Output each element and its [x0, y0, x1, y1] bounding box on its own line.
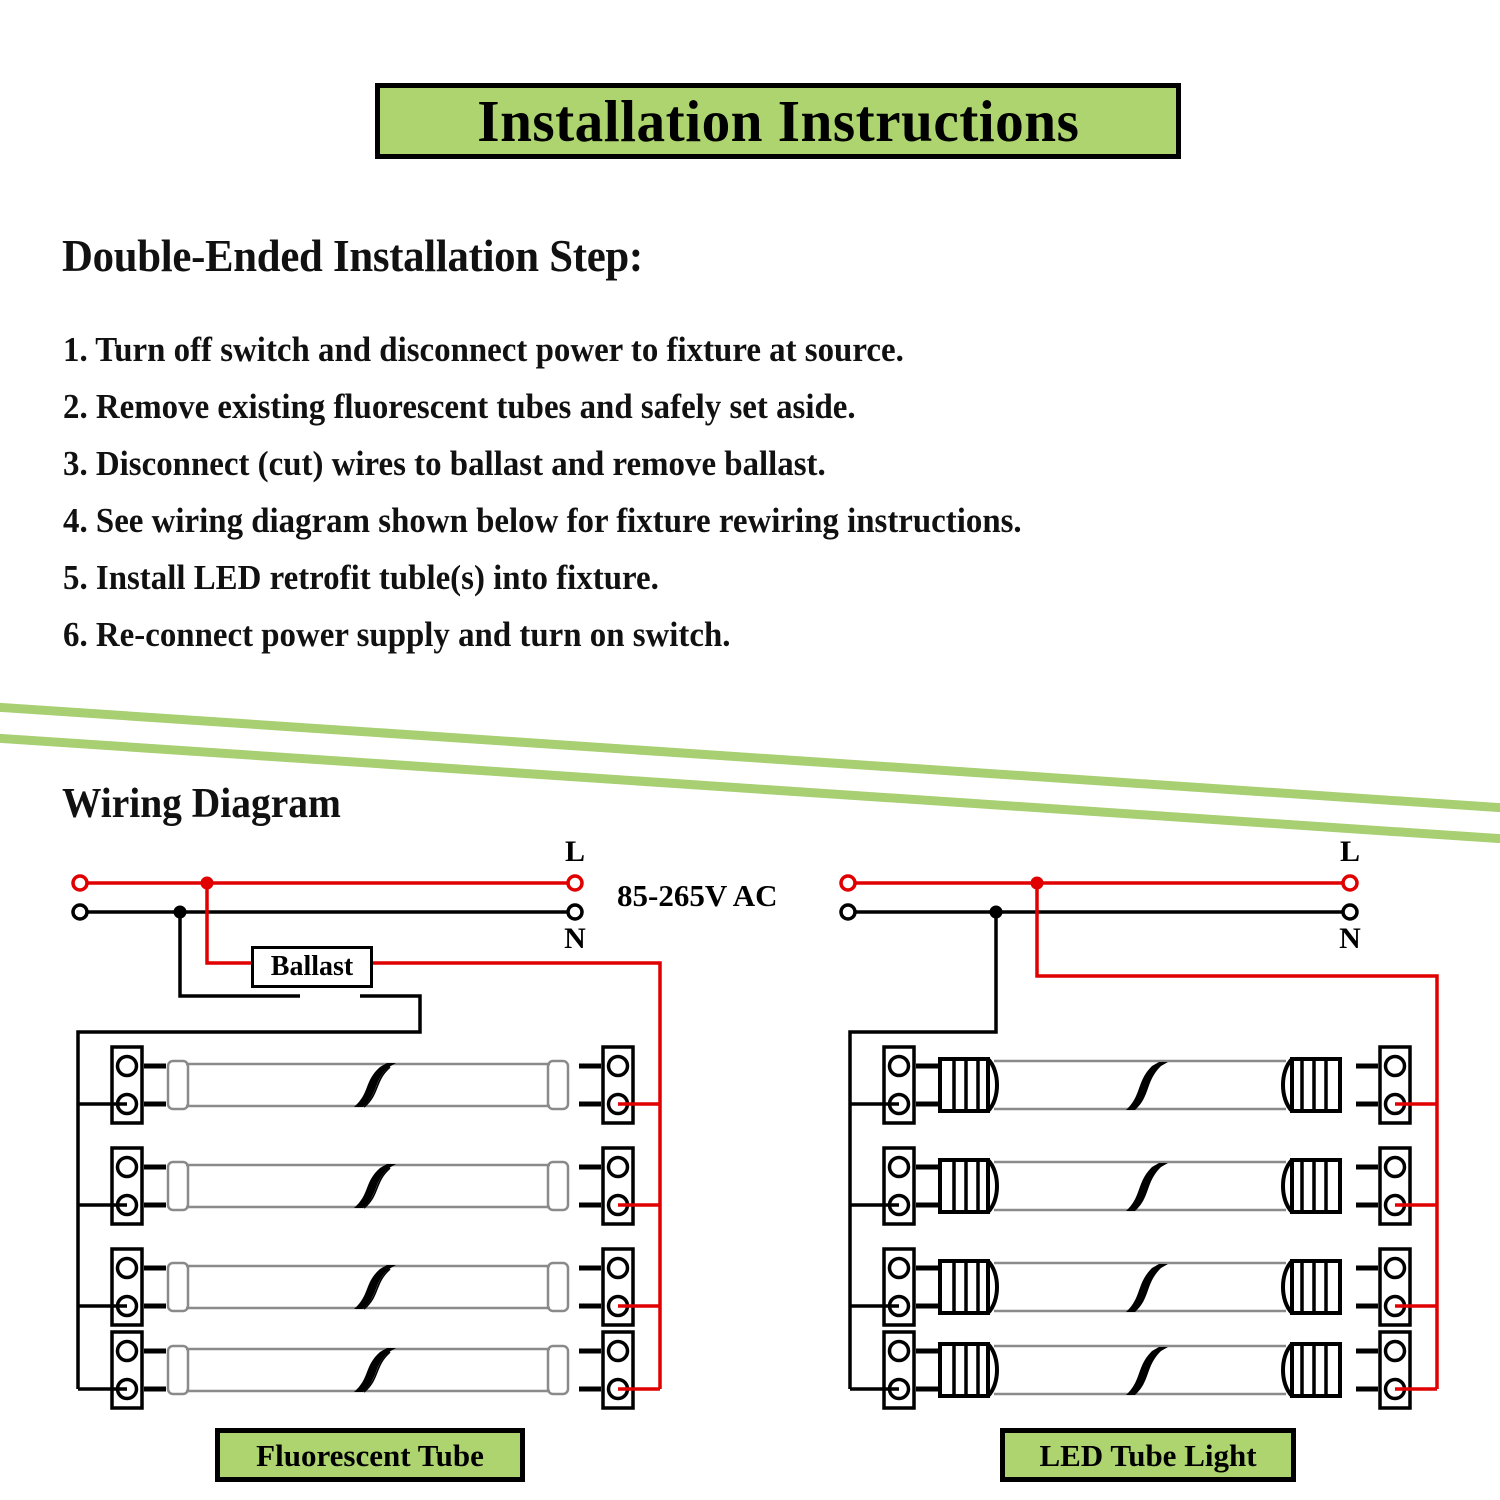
- neutral-terminal-right: [568, 905, 582, 919]
- caption-label: Fluorescent Tube: [256, 1440, 484, 1471]
- caption-fluorescent-tube: Fluorescent Tube: [215, 1428, 525, 1482]
- socket-left: [884, 1249, 938, 1325]
- installation-steps-list: 1. Turn off switch and disconnect power …: [63, 332, 1463, 674]
- socket-right: [1356, 1148, 1410, 1224]
- socket-right: [579, 1249, 633, 1325]
- tube-row: [850, 1249, 1437, 1325]
- live-label-L: L: [565, 836, 585, 868]
- neutral-label-N: N: [564, 922, 586, 955]
- led-tube: [940, 1344, 1340, 1396]
- neutral-terminal-right: [1343, 905, 1357, 919]
- caption-led-tube-light: LED Tube Light: [1000, 1428, 1296, 1482]
- led-tube: [940, 1059, 1340, 1111]
- list-item: 4. See wiring diagram shown below for fi…: [63, 503, 1379, 538]
- fluorescent-tube: [168, 1162, 568, 1210]
- caption-label: LED Tube Light: [1039, 1440, 1256, 1471]
- ballast-box: Ballast: [251, 946, 373, 988]
- live-terminal-left: [73, 876, 87, 890]
- neutral-to-left-bus: [850, 912, 996, 1389]
- live-terminal-right: [568, 876, 582, 890]
- neutral-terminal-left: [73, 905, 87, 919]
- wiring-diagram: L N: [0, 836, 1500, 1436]
- led-tube: [940, 1160, 1340, 1212]
- socket-right: [579, 1332, 633, 1408]
- socket-left: [112, 1249, 166, 1325]
- fluorescent-tube: [168, 1061, 568, 1109]
- socket-right: [579, 1047, 633, 1123]
- tube-row: [78, 1047, 660, 1123]
- ballast-label: Ballast: [271, 953, 353, 981]
- list-item: 3. Disconnect (cut) wires to ballast and…: [63, 446, 1379, 481]
- tube-row: [78, 1332, 660, 1408]
- tube-row: [850, 1148, 1437, 1224]
- socket-left: [112, 1332, 166, 1408]
- tube-row: [78, 1249, 660, 1325]
- socket-right: [579, 1148, 633, 1224]
- section-heading-installation-step: Double-Ended Installation Step:: [62, 229, 643, 282]
- live-terminal-left: [841, 876, 855, 890]
- neutral-label-N: N: [1339, 922, 1361, 955]
- socket-right: [1356, 1047, 1410, 1123]
- socket-right: [1356, 1249, 1410, 1325]
- page-title-banner: Installation Instructions: [375, 83, 1181, 159]
- socket-left: [112, 1148, 166, 1224]
- list-item: 6. Re-connect power supply and turn on s…: [63, 617, 1379, 652]
- fluorescent-tube: [168, 1346, 568, 1394]
- led-tube: [940, 1261, 1340, 1313]
- voltage-label: 85-265V AC: [617, 878, 777, 914]
- tube-row: [850, 1047, 1437, 1123]
- socket-left: [884, 1047, 938, 1123]
- list-item: 1. Turn off switch and disconnect power …: [63, 332, 1379, 367]
- left-circuit-fluorescent: L N: [73, 836, 660, 1408]
- fluorescent-tube: [168, 1263, 568, 1311]
- neutral-terminal-left: [841, 905, 855, 919]
- tube-row: [850, 1332, 1437, 1408]
- live-terminal-right: [1343, 876, 1357, 890]
- list-item: 2. Remove existing fluorescent tubes and…: [63, 389, 1379, 424]
- tube-row: [78, 1148, 660, 1224]
- page-title: Installation Instructions: [477, 92, 1079, 151]
- live-label-L: L: [1340, 836, 1360, 868]
- green-diagonal-stripes: [0, 690, 1500, 860]
- socket-left: [884, 1148, 938, 1224]
- list-item: 5. Install LED retrofit tuble(s) into fi…: [63, 560, 1379, 595]
- wiring-diagram-heading: Wiring Diagram: [62, 780, 341, 828]
- socket-left: [884, 1332, 938, 1408]
- socket-left: [112, 1047, 166, 1123]
- right-circuit-led: L N: [841, 836, 1437, 1408]
- socket-right: [1356, 1332, 1410, 1408]
